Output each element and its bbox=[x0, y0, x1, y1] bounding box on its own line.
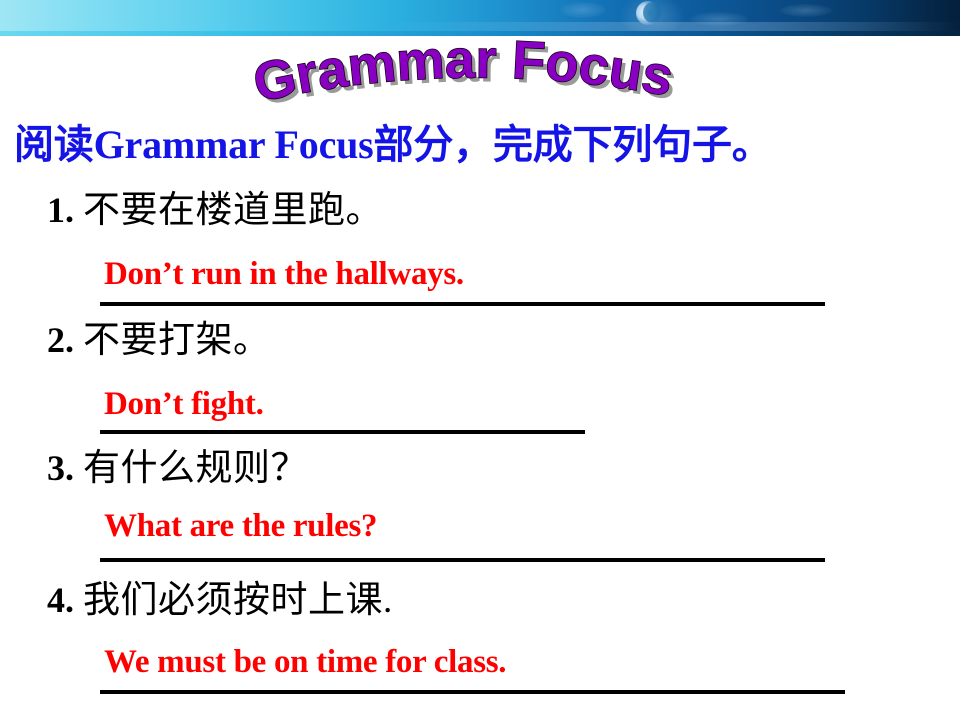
answer-line[interactable]: Don’t run in the hallways. bbox=[0, 253, 960, 295]
page-title: Grammar Focus Grammar Focus bbox=[0, 40, 960, 106]
question-line: 3. 有什么规则？ bbox=[0, 444, 960, 493]
item-chinese: 我们必须按时上课. bbox=[83, 577, 393, 625]
question-line: 4. 我们必须按时上课. bbox=[0, 576, 960, 625]
answer-line[interactable]: Don’t fight. bbox=[0, 383, 960, 425]
list-item: 2. 不要打架。 Don’t fight. bbox=[0, 316, 960, 444]
slide-root: { "banner": { "moon_icon": "crescent-moo… bbox=[0, 0, 960, 720]
item-number: 4. bbox=[47, 576, 74, 624]
question-line: 2. 不要打架。 bbox=[0, 316, 960, 365]
item-number: 2. bbox=[47, 316, 74, 364]
instruction-text: 阅读Grammar Focus部分，完成下列句子。 bbox=[14, 122, 772, 168]
item-chinese: 不要打架。 bbox=[83, 317, 271, 365]
answer-rule bbox=[100, 302, 825, 306]
cloud-wisp-icon bbox=[560, 2, 606, 18]
list-item: 1. 不要在楼道里跑。 Don’t run in the hallways. bbox=[0, 186, 960, 316]
item-chinese: 不要在楼道里跑。 bbox=[83, 187, 383, 235]
item-number: 1. bbox=[47, 186, 74, 234]
item-answer: Don’t fight. bbox=[104, 386, 264, 422]
answer-rule bbox=[100, 430, 585, 434]
item-answer: What are the rules? bbox=[104, 508, 377, 544]
answer-rule bbox=[100, 558, 825, 562]
item-answer: We must be on time for class. bbox=[104, 644, 506, 680]
page-title-wordart: Grammar Focus Grammar Focus bbox=[0, 40, 960, 106]
answer-line[interactable]: We must be on time for class. bbox=[0, 641, 960, 683]
item-answer: Don’t run in the hallways. bbox=[104, 256, 464, 292]
item-chinese: 有什么规则？ bbox=[83, 445, 308, 493]
list-item: 3. 有什么规则？ What are the rules? bbox=[0, 444, 960, 576]
list-item: 4. 我们必须按时上课. We must be on time for clas… bbox=[0, 576, 960, 706]
exercise-list: 1. 不要在楼道里跑。 Don’t run in the hallways. 2… bbox=[0, 186, 960, 706]
question-line: 1. 不要在楼道里跑。 bbox=[0, 186, 960, 235]
cloud-wisp-icon bbox=[780, 4, 832, 17]
answer-line[interactable]: What are the rules? bbox=[0, 505, 960, 547]
item-number: 3. bbox=[47, 444, 74, 492]
answer-rule bbox=[100, 690, 845, 694]
